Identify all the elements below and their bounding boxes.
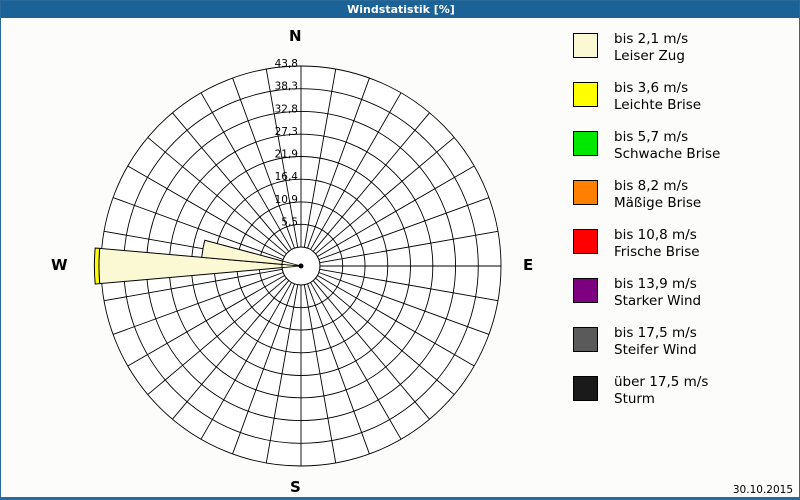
legend-item[interactable]: bis 17,5 m/sSteifer Wind [573, 325, 793, 368]
bottom-divider [1, 497, 800, 499]
legend-label: bis 10,8 m/sFrische Brise [614, 227, 700, 261]
legend-label: bis 5,7 m/sSchwache Brise [614, 129, 720, 163]
chart-window: Windstatistik [%] 5,510,916,421,927,332,… [0, 0, 800, 500]
legend-speed-label: bis 13,9 m/s [614, 276, 701, 293]
wind-rose-petal-segment [94, 248, 99, 284]
radial-tick-label: 27,3 [275, 126, 298, 138]
wind-rose-svg: 5,510,916,421,927,332,838,343,8 [1, 18, 561, 500]
legend-speed-label: bis 5,7 m/s [614, 129, 720, 146]
legend-speed-label: bis 3,6 m/s [614, 80, 701, 97]
legend-color-swatch [573, 131, 598, 156]
legend-label: bis 13,9 m/sStarker Wind [614, 276, 701, 310]
legend-speed-label: bis 8,2 m/s [614, 178, 701, 195]
legend-speed-label: bis 17,5 m/s [614, 325, 697, 342]
legend-item[interactable]: über 17,5 m/sSturm [573, 374, 793, 417]
legend-name-label: Frische Brise [614, 244, 700, 261]
datestamp: 30.10.2015 [733, 484, 793, 496]
legend-color-swatch [573, 376, 598, 401]
legend-item[interactable]: bis 8,2 m/sMäßige Brise [573, 178, 793, 221]
radial-tick-label: 43,8 [275, 58, 298, 70]
radial-tick-label: 32,8 [275, 103, 298, 115]
legend-speed-label: bis 2,1 m/s [614, 31, 688, 48]
wind-rose-plot: 5,510,916,421,927,332,838,343,8 [1, 18, 561, 500]
radial-tick-label: 10,9 [275, 194, 298, 206]
legend-name-label: Leiser Zug [614, 48, 688, 65]
compass-label-west: W [51, 256, 68, 274]
radial-tick-label: 38,3 [275, 81, 298, 93]
window-title: Windstatistik [%] [347, 3, 455, 16]
legend-name-label: Leichte Brise [614, 97, 701, 114]
legend-speed-label: bis 10,8 m/s [614, 227, 700, 244]
legend-name-label: Schwache Brise [614, 146, 720, 163]
legend-item[interactable]: bis 13,9 m/sStarker Wind [573, 276, 793, 319]
window-title-bar: Windstatistik [%] [1, 1, 800, 18]
radial-tick-label: 21,9 [275, 149, 298, 161]
legend-color-swatch [573, 33, 598, 58]
legend-item[interactable]: bis 2,1 m/sLeiser Zug [573, 31, 793, 74]
legend-name-label: Sturm [614, 391, 708, 408]
legend-color-swatch [573, 180, 598, 205]
legend-color-swatch [573, 82, 598, 107]
legend: bis 2,1 m/sLeiser Zugbis 3,6 m/sLeichte … [573, 31, 793, 423]
legend-item[interactable]: bis 3,6 m/sLeichte Brise [573, 80, 793, 123]
calm-center-circle [282, 247, 320, 285]
legend-label: über 17,5 m/sSturm [614, 374, 708, 408]
legend-name-label: Steifer Wind [614, 342, 697, 359]
legend-label: bis 8,2 m/sMäßige Brise [614, 178, 701, 212]
legend-item[interactable]: bis 5,7 m/sSchwache Brise [573, 129, 793, 172]
legend-color-swatch [573, 229, 598, 254]
compass-label-south: S [290, 478, 301, 496]
legend-item[interactable]: bis 10,8 m/sFrische Brise [573, 227, 793, 270]
compass-label-east: E [523, 256, 533, 274]
legend-label: bis 3,6 m/sLeichte Brise [614, 80, 701, 114]
radial-tick-label: 5,5 [281, 216, 298, 228]
legend-label: bis 17,5 m/sSteifer Wind [614, 325, 697, 359]
radial-tick-label: 16,4 [275, 171, 299, 183]
legend-label: bis 2,1 m/sLeiser Zug [614, 31, 688, 65]
legend-name-label: Mäßige Brise [614, 195, 701, 212]
legend-name-label: Starker Wind [614, 293, 701, 310]
legend-color-swatch [573, 327, 598, 352]
legend-speed-label: über 17,5 m/s [614, 374, 708, 391]
legend-color-swatch [573, 278, 598, 303]
compass-label-north: N [289, 27, 302, 45]
